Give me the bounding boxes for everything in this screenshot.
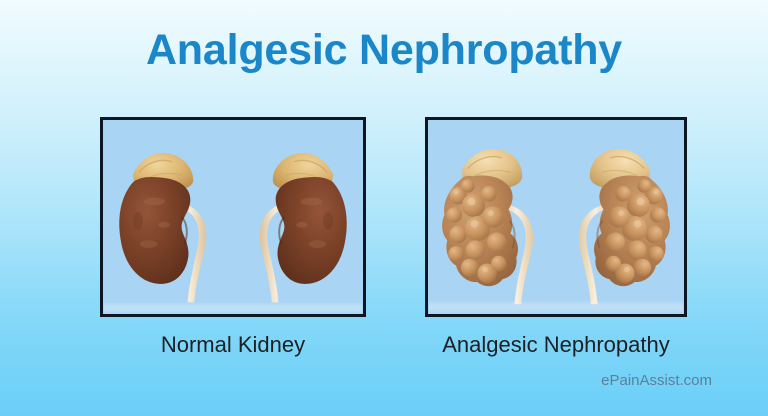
normal-kidney-illustration: [103, 120, 363, 314]
site-watermark: ePainAssist.com: [601, 372, 712, 389]
caption-normal-kidney: Normal Kidney: [100, 332, 366, 358]
page-title: Analgesic Nephropathy: [0, 28, 768, 73]
infographic-canvas: Analgesic Nephropathy: [0, 0, 768, 416]
panel-analgesic-nephropathy: [425, 117, 687, 317]
analgesic-nephropathy-illustration: [428, 120, 684, 314]
caption-analgesic-nephropathy: Analgesic Nephropathy: [425, 332, 687, 358]
panel-normal-kidney: [100, 117, 366, 317]
